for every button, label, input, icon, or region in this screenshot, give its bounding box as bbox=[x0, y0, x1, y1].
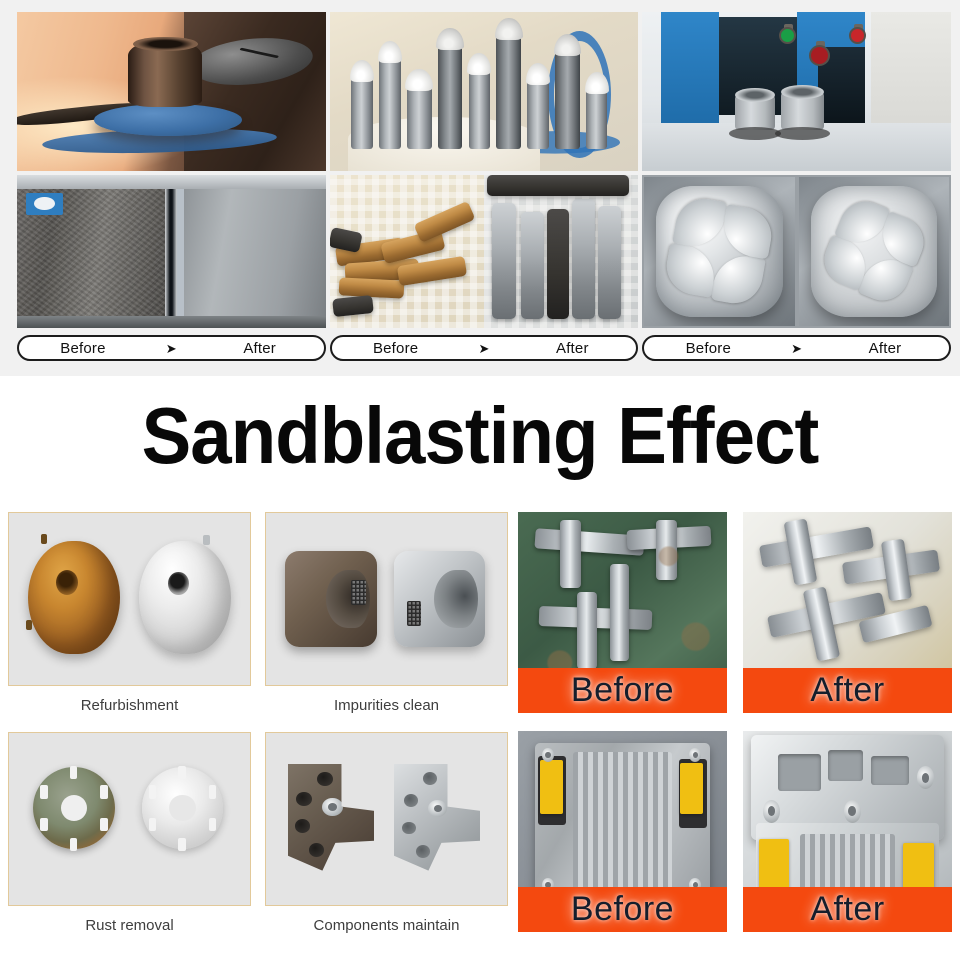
card-impurities-clean-image bbox=[265, 512, 508, 686]
before-after-pill-row: Before ➤ After Before ➤ After Before ➤ A… bbox=[17, 335, 951, 361]
page-title: Sandblasting Effect bbox=[34, 383, 927, 488]
tee-fittings-after-caption: After bbox=[743, 668, 952, 713]
impeller-shell-left bbox=[644, 177, 794, 326]
pill-after-label-3: After bbox=[824, 340, 946, 357]
card-impurities-clean: Impurities clean bbox=[265, 512, 508, 724]
sandblasting-effect-poster: Before ➤ After Before ➤ After Before ➤ A… bbox=[0, 0, 960, 960]
nozzles-before-after-photo bbox=[330, 175, 639, 328]
pill-before-label-1: Before bbox=[22, 340, 144, 357]
turntable-fixture-photo bbox=[17, 12, 326, 171]
card-rust-removal-image bbox=[8, 732, 251, 906]
ecu-housing-before: Before bbox=[518, 731, 727, 932]
emergency-stop-icon bbox=[809, 45, 830, 66]
drill-bits-rack-photo bbox=[330, 12, 639, 171]
tee-fittings-after: After bbox=[743, 512, 952, 713]
blast-cabinet-photo bbox=[642, 12, 951, 171]
tee-fittings-before-caption: Before bbox=[518, 668, 727, 713]
nozzles-before-photo bbox=[330, 175, 484, 328]
start-button-green-icon bbox=[779, 27, 796, 44]
nozzles-after-photo bbox=[484, 175, 638, 328]
card-refurbishment-label: Refurbishment bbox=[8, 686, 251, 724]
card-rust-removal-label: Rust removal bbox=[8, 906, 251, 944]
top-photo-grid bbox=[17, 12, 951, 328]
top-gallery-section: Before ➤ After Before ➤ After Before ➤ A… bbox=[0, 0, 960, 376]
card-impurities-clean-label: Impurities clean bbox=[265, 686, 508, 724]
card-refurbishment: Refurbishment bbox=[8, 512, 251, 724]
card-components-maintain-image bbox=[265, 732, 508, 906]
impeller-shell-photo bbox=[642, 175, 951, 328]
ecu-housing-after-caption: After bbox=[743, 887, 952, 932]
ecu-housing-before-caption: Before bbox=[518, 887, 727, 932]
pill-after-label-2: After bbox=[511, 340, 633, 357]
arrow-right-icon: ➤ bbox=[144, 342, 199, 355]
impeller-shell-right bbox=[799, 177, 949, 326]
application-cards-grid: Refurbishment Impurities clean bbox=[8, 512, 508, 944]
pill-before-label-3: Before bbox=[647, 340, 769, 357]
before-after-photo-grid: Before After bbox=[518, 512, 952, 932]
machine-control-buttons bbox=[766, 25, 933, 66]
before-after-pill-1[interactable]: Before ➤ After bbox=[17, 335, 326, 361]
card-refurbishment-image bbox=[8, 512, 251, 686]
before-after-pill-3[interactable]: Before ➤ After bbox=[642, 335, 951, 361]
pill-after-label-1: After bbox=[199, 340, 321, 357]
card-components-maintain: Components maintain bbox=[265, 732, 508, 944]
roller-before-after-photo bbox=[17, 175, 326, 328]
pill-before-label-2: Before bbox=[335, 340, 457, 357]
bottom-section: Refurbishment Impurities clean bbox=[0, 500, 960, 960]
arrow-right-icon: ➤ bbox=[769, 342, 824, 355]
ecu-housing-after: After bbox=[743, 731, 952, 932]
arrow-right-icon: ➤ bbox=[457, 342, 512, 355]
card-rust-removal: Rust removal bbox=[8, 732, 251, 944]
stop-button-red-icon bbox=[849, 27, 866, 44]
card-components-maintain-label: Components maintain bbox=[265, 906, 508, 944]
tee-fittings-before: Before bbox=[518, 512, 727, 713]
before-after-pill-2[interactable]: Before ➤ After bbox=[330, 335, 639, 361]
